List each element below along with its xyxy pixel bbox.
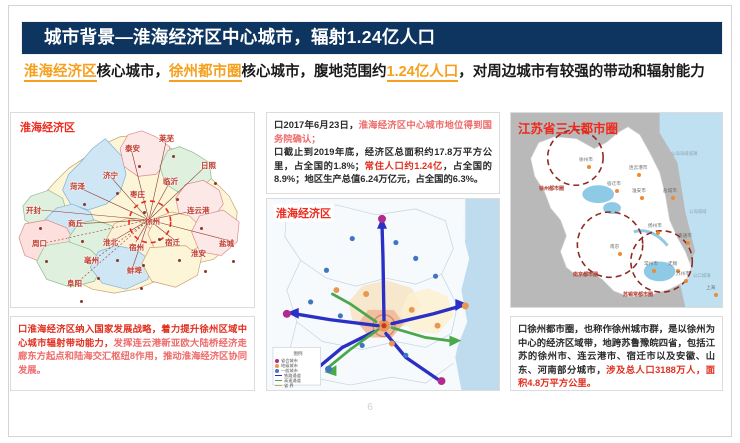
map-city-dot: [232, 260, 235, 263]
map-city-dot: [81, 240, 84, 243]
map-city-dot: [200, 227, 203, 230]
page-title: 城市背景—淮海经济区中心城市，辐射1.24亿人口: [44, 29, 435, 47]
subtitle-part-2: 核心城市，: [97, 64, 170, 80]
map-city-label: 日照: [201, 160, 216, 171]
jiangsu-city-label: 上海: [706, 285, 715, 291]
map-city-dot: [116, 259, 119, 262]
huaihai-corridor-map-panel: 淮海经济区 图例省会城市地级城市一般城市铁路通道高速通道省 界: [266, 198, 500, 391]
bullet1-date: 口2017年6月23日，: [274, 120, 359, 130]
map-city-dot: [172, 155, 175, 158]
map-city-label: 周口: [32, 238, 47, 249]
slide-root: 城市背景—淮海经济区中心城市，辐射1.24亿人口 淮海经济区核心城市，徐州都市圈…: [0, 0, 740, 443]
jiangsu-city-label: 盐城市: [663, 188, 677, 194]
jiangsu-city-dot: [684, 279, 688, 283]
map-city-label: 宿迁: [165, 237, 180, 248]
subtitle-highlight-huaihai: 淮海经济区: [24, 64, 97, 82]
map-city-dot: [176, 198, 179, 201]
jiangsu-metro-circles-map-panel: 江苏省三大都市圈 徐州市连云港市宿迁市淮安市盐城市扬州市南通市南京常州市无锡苏州…: [510, 112, 723, 308]
jiangsu-city-label: 宿迁市: [607, 181, 621, 187]
legend-swatch-icon: [275, 385, 282, 387]
map-city-label: 泰安: [125, 143, 140, 154]
map-city-label: 亳州: [84, 255, 99, 266]
map-city-dot: [140, 287, 143, 290]
map-city-dot: [80, 300, 83, 303]
legend-swatch-icon: [275, 375, 282, 377]
legend-title: 图例: [275, 351, 321, 357]
map-city-dot: [45, 260, 48, 263]
map-city-label: 济宁: [103, 170, 118, 181]
jiangsu-city-dot: [714, 293, 718, 297]
legend-item: 省 界: [275, 383, 321, 388]
map-city-label: 盐城: [219, 238, 234, 249]
sea-area-label: 公海海域城镇: [671, 151, 697, 157]
jiangsu-city-label: 无锡: [668, 261, 677, 267]
jiangsu-city-label: 南京: [610, 244, 619, 250]
legend-swatch-icon: [275, 364, 279, 368]
map-city-dot: [39, 227, 42, 230]
legend-label: 省 界: [284, 383, 294, 388]
legend-swatch-icon: [275, 359, 279, 363]
subtitle-highlight-population: 1.24亿人口: [387, 64, 459, 82]
map-city-dot: [214, 182, 217, 185]
jiangsu-city-label: 淮安市: [632, 188, 646, 194]
map-city-label: 开封: [26, 205, 41, 216]
jiangsu-city-dot: [656, 231, 660, 235]
metro-circle-label: 南京都市圈: [573, 271, 598, 278]
map-city-label: 淮安: [191, 248, 206, 259]
map-city-label: 宿州: [129, 242, 144, 253]
page-number: 6: [0, 402, 740, 413]
center-panel-bullet-1: 口2017年6月23日，淮海经济区中心城市地位得到国务院确认；: [274, 119, 492, 146]
center-panel-bullet-2: 口截止到2019年底，经济区总面积约17.8万平方公里，占全国的1.8%；常住人…: [274, 146, 492, 187]
jiangsu-city-label: 南通市: [678, 233, 692, 239]
huaihai-strategy-text-panel: 口淮海经济区纳入国家发展战略，着力提升徐州区域中心城市辐射带动能力，发挥连云港新…: [10, 316, 255, 391]
xuzhou-metro-circle-text-panel: 口徐州都市圈，也称作徐州城市群，是以徐州为中心的经济区域带，地跨苏鲁豫皖四省，包…: [510, 316, 723, 391]
map-city-label: 菏泽: [70, 181, 85, 192]
metro-circle-label: 徐州都市圈: [539, 185, 564, 192]
map-city-label: 蚌埠: [127, 265, 142, 276]
jiangsu-city-dot: [652, 269, 656, 273]
jiangsu-city-dot: [615, 189, 619, 193]
jiangsu-city-label: 常州市: [644, 261, 658, 267]
jiangsu-city-dot: [618, 252, 622, 256]
jiangsu-city-label: 连云港市: [629, 165, 647, 171]
map-city-label: 连云港: [187, 205, 210, 216]
jiangsu-city-dot: [671, 196, 675, 200]
slide-title-bar: 城市背景—淮海经济区中心城市，辐射1.24亿人口: [21, 21, 723, 55]
map-label-jiangsu-metro-circles: 江苏省三大都市圈: [515, 117, 621, 138]
subtitle-part-4: 核心城市，腹地范围约: [242, 64, 387, 80]
map-city-dot: [97, 277, 100, 280]
metro-circle-label: 苏锡常都市圈: [623, 291, 653, 298]
map-city-label: 莱芜: [159, 133, 174, 144]
center-map-legend: 图例省会城市地级城市一般城市铁路通道高速通道省 界: [275, 351, 321, 388]
map-city-dot: [158, 238, 161, 241]
left-panel-paragraph: 口淮海经济区纳入国家发展战略，着力提升徐州区域中心城市辐射带动能力，发挥连云港新…: [18, 323, 247, 377]
jiangsu-city-dot: [686, 241, 690, 245]
map-city-dot: [143, 211, 146, 214]
map-city-label: 商丘: [68, 218, 83, 229]
map-city-label: 徐州: [145, 216, 160, 227]
map-city-dot: [142, 264, 145, 267]
map-city-dot: [178, 259, 181, 262]
right-panel-paragraph: 口徐州都市圈，也称作徐州城市群，是以徐州为中心的经济区域带，地跨苏鲁豫皖四省，包…: [518, 323, 715, 391]
map-city-label: 临沂: [163, 176, 178, 187]
map-city-label: 阜阳: [67, 278, 82, 289]
map-city-dot: [83, 203, 86, 206]
zone-statistics-text-panel: 口2017年6月23日，淮海经济区中心城市地位得到国务院确认； 口截止到2019…: [266, 112, 500, 194]
map-city-dot: [204, 270, 207, 273]
jiangsu-city-label: 徐州市: [579, 157, 593, 163]
map-label-huaihai-corridor: 淮海经济区: [273, 204, 334, 222]
sea-area-label: 公海城域: [689, 209, 707, 215]
jiangsu-city-dot: [640, 196, 644, 200]
map-city-label: 淮北: [103, 237, 118, 248]
map-city-dot: [138, 165, 141, 168]
bullet2-population-highlight: 常住人口约1.24亿: [364, 161, 443, 171]
subtitle-highlight-xuzhou: 徐州都市圈: [169, 64, 242, 82]
jiangsu-city-label: 苏州市: [676, 271, 690, 277]
map-city-dot: [116, 192, 119, 195]
sea-area-label: 公口城镇: [693, 273, 711, 279]
map-city-label: 枣庄: [130, 189, 145, 200]
map-label-huaihai-zone: 淮海经济区: [17, 118, 78, 136]
jiangsu-city-label: 扬州市: [648, 223, 662, 229]
legend-swatch-icon: [275, 369, 279, 373]
subtitle-part-6: ，对周边城市有较强的带动和辐射能力: [458, 64, 705, 80]
subtitle-text: 淮海经济区核心城市，徐州都市圈核心城市，腹地范围约1.24亿人口，对周边城市有较…: [24, 62, 714, 83]
legend-swatch-icon: [275, 380, 282, 382]
jiangsu-city-dot: [637, 173, 641, 177]
jiangsu-city-dot: [587, 165, 591, 169]
huaihai-economic-zone-map-panel: 淮海经济区 莱芜泰安济宁日照临沂菏泽枣庄徐州开封商丘连云港周口淮北宿州宿迁盐城淮…: [10, 112, 255, 308]
